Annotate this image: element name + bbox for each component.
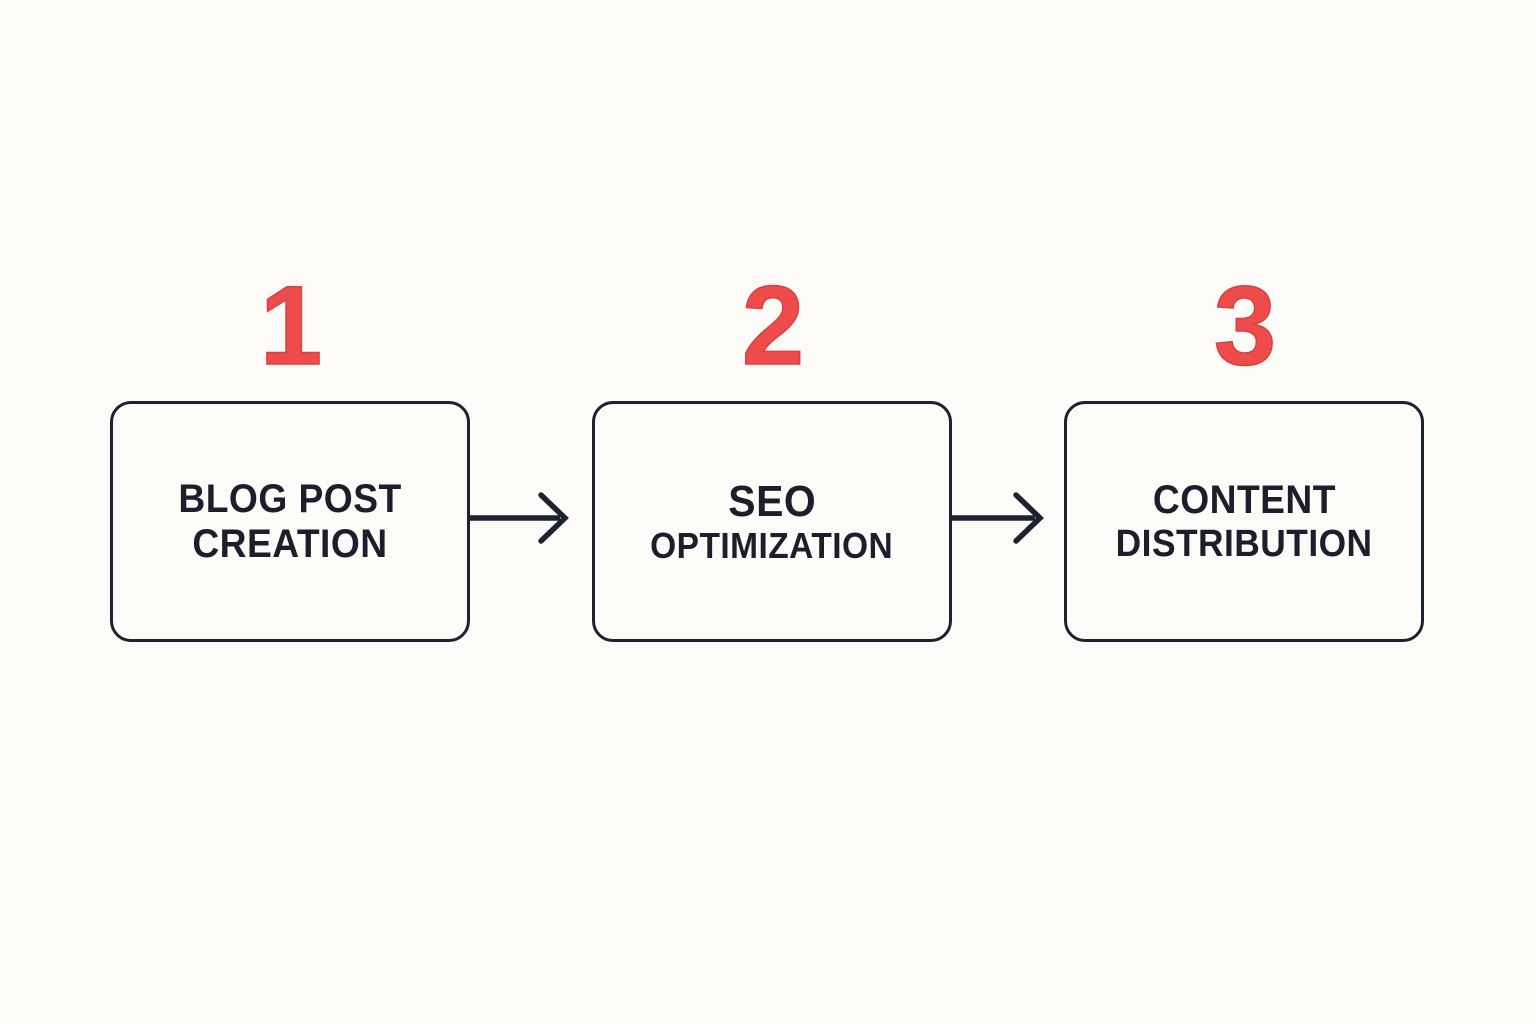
step-box-label-line2: DISTRIBUTION — [1116, 523, 1373, 566]
step-box-label-line1: CONTENT — [1152, 478, 1335, 523]
step-box-content-distribution[interactable]: CONTENT DISTRIBUTION — [1064, 401, 1424, 642]
step-box-seo-optimization[interactable]: SEO OPTIMIZATION — [592, 401, 952, 642]
flowchart-canvas: 1 BLOG POST CREATION 2 SEO OPTIMIZATION … — [0, 0, 1536, 1024]
step-box-label-line1: BLOG POST — [178, 477, 401, 522]
step-box-label-line2: CREATION — [192, 522, 387, 567]
arrow-right-icon — [949, 487, 1075, 549]
step-number-2: 2 — [592, 270, 952, 382]
connector-arrow-2-to-3 — [949, 487, 1075, 549]
arrow-right-icon — [468, 487, 594, 549]
step-number-1: 1 — [110, 270, 470, 382]
step-box-label-line1: SEO — [728, 477, 816, 526]
step-number-3: 3 — [1064, 270, 1424, 382]
step-box-blog-post-creation[interactable]: BLOG POST CREATION — [110, 401, 470, 642]
step-box-label-line2: OPTIMIZATION — [650, 526, 893, 566]
connector-arrow-1-to-2 — [468, 487, 594, 549]
